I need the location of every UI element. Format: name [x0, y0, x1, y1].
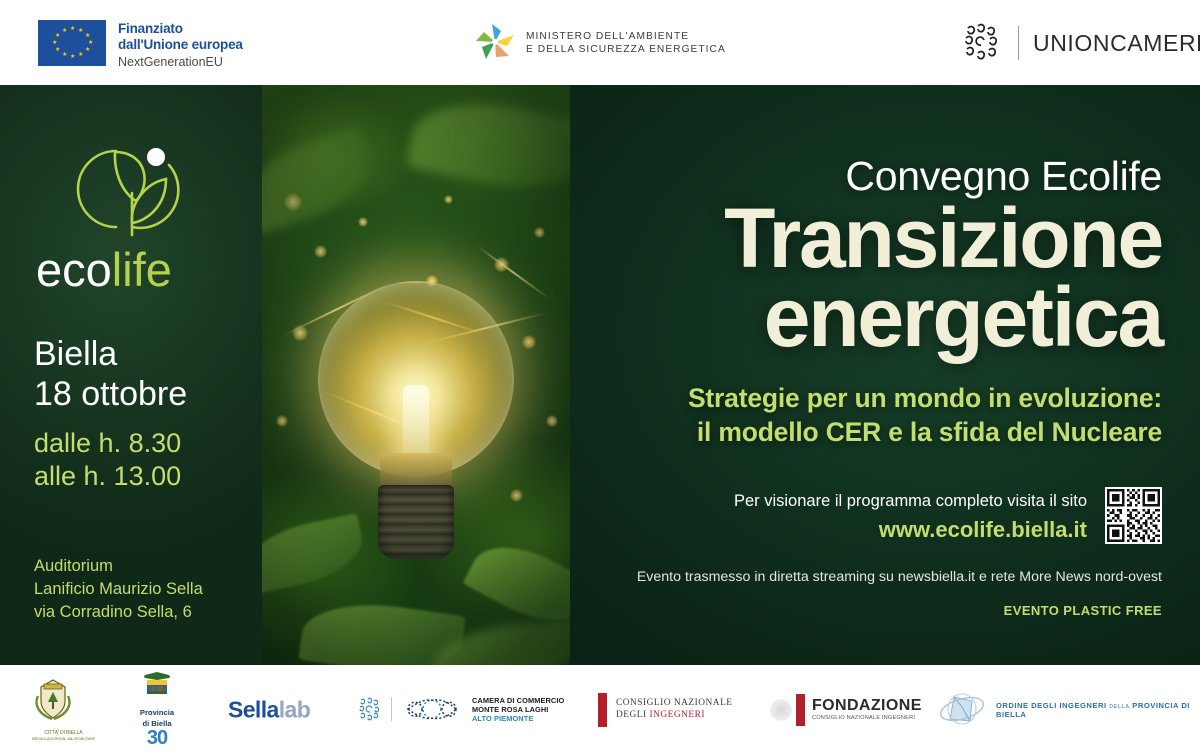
- left-info-panel: ecolife Biella 18 ottobre dalle h. 8.30 …: [0, 85, 262, 665]
- camera-commercio-text: CAMERA DI COMMERCIO MONTE ROSA LAGHI ALT…: [472, 696, 564, 724]
- comune-crest-icon: [32, 678, 74, 730]
- photo-vignette: [262, 85, 570, 665]
- ministry-logo: MINISTERO DELL'AMBIENTE E DELLA SICUREZZ…: [474, 22, 726, 64]
- cni-text: CONSIGLIO NAZIONALE DEGLI INGEGNERI: [616, 698, 733, 721]
- camera-commercio-line3: ALTO PIEMONTE: [472, 714, 564, 723]
- comune-di-biella-logo: CITTA' DI BIELLA MEDAGLIA D'ORO AL VALOR…: [32, 678, 95, 742]
- provincia-label-line1: Provincia: [120, 708, 194, 717]
- ordine-line1: ORDINE DEGLI INGEGNERI: [996, 701, 1107, 710]
- ordine-text: ORDINE DEGLI INGEGNERI DELLA PROVINCIA D…: [996, 701, 1200, 719]
- ecolife-word-life: life: [112, 243, 172, 296]
- provincia-di-biella-logo: Provincia di Biella 30: [120, 672, 194, 748]
- provincia-shield-icon: [141, 672, 173, 706]
- event-city: Biella: [34, 334, 187, 374]
- venue-line2: Lanificio Maurizio Sella: [34, 578, 203, 601]
- consiglio-nazionale-ingegneri-logo: CONSIGLIO NAZIONALE DEGLI INGEGNERI: [598, 693, 792, 727]
- title-line-1: Transizione: [724, 199, 1162, 278]
- unioncamere-divider: [1018, 26, 1019, 60]
- lightbulb-photo: [262, 85, 570, 665]
- fondazione-line2: CONSIGLIO NAZIONALE INGEGNERI: [812, 714, 922, 722]
- event-date: 18 ottobre: [34, 374, 187, 414]
- program-cta-text: Per visionare il programma completo visi…: [734, 487, 1087, 544]
- cni-red-bar-icon: [598, 693, 607, 727]
- ministry-line2: E DELLA SICUREZZA ENERGETICA: [526, 43, 726, 57]
- event-venue-block: Auditorium Lanificio Maurizio Sella via …: [34, 555, 203, 624]
- ecolife-word-eco: eco: [36, 243, 112, 296]
- repubblica-italiana-emblem: [770, 699, 792, 721]
- venue-line1: Auditorium: [34, 555, 203, 578]
- camera-di-commercio-logo: CAMERA DI COMMERCIO MONTE ROSA LAGHI ALT…: [356, 696, 564, 724]
- unioncamere-logo: UNIONCAMERE: [958, 20, 1200, 66]
- fondazione-text: FONDAZIONE CONSIGLIO NAZIONALE INGEGNERI: [812, 697, 922, 722]
- cni-line2: DEGLI INGEGNERI: [616, 710, 733, 722]
- ministry-line1: MINISTERO DELL'AMBIENTE: [526, 30, 726, 44]
- ordine-ingegneri-biella-logo: ORDINE DEGLI INGEGNERI DELLA PROVINCIA D…: [936, 691, 1200, 729]
- event-poster: ★★ ★★ ★★ ★★ ★★ ★★ Finanziato dall'Unione…: [0, 0, 1200, 754]
- eu-flag-icon: ★★ ★★ ★★ ★★ ★★ ★★: [38, 20, 106, 66]
- fondazione-red-bar-icon: [796, 694, 805, 726]
- eu-funding-line3: NextGenerationEU: [118, 54, 243, 70]
- partners-footer: CITTA' DI BIELLA MEDAGLIA D'ORO AL VALOR…: [0, 665, 1200, 754]
- eu-funding-text: Finanziato dall'Unione europea NextGener…: [118, 20, 243, 70]
- ecolife-wordmark: ecolife: [36, 245, 232, 295]
- camera-commercio-line1: CAMERA DI COMMERCIO: [472, 696, 564, 705]
- unioncamere-name: UNIONCAMERE: [1033, 30, 1200, 57]
- camera-commercio-divider: [391, 697, 392, 721]
- plastic-free-badge: EVENTO PLASTIC FREE: [1004, 603, 1162, 618]
- fondazione-cni-logo: FONDAZIONE CONSIGLIO NAZIONALE INGEGNERI: [796, 694, 922, 726]
- eu-funding-line1: Finanziato: [118, 21, 243, 37]
- event-time-to: alle h. 13.00: [34, 460, 181, 493]
- sellalab-part-1: Sella: [228, 696, 279, 722]
- event-location-block: Biella 18 ottobre: [34, 334, 187, 414]
- event-subtitle: Strategie per un mondo in evoluzione: il…: [688, 381, 1162, 449]
- eu-stars: ★★ ★★ ★★ ★★ ★★ ★★: [38, 20, 106, 66]
- ecolife-brand: ecolife: [32, 135, 232, 295]
- page-title: Transizione energetica: [724, 199, 1162, 357]
- title-line-2: energetica: [724, 278, 1162, 357]
- unioncamere-mark-icon: [958, 20, 1004, 66]
- camera-commercio-line2: MONTE ROSA LAGHI: [472, 705, 564, 714]
- subtitle-line-1: Strategie per un mondo in evoluzione:: [688, 381, 1162, 415]
- subtitle-line-2: il modello CER e la sfida del Nucleare: [688, 415, 1162, 449]
- provincia-anniversary: 30: [120, 728, 194, 748]
- cni-line1: CONSIGLIO NAZIONALE: [616, 698, 733, 710]
- sellalab-part-2: lab: [279, 696, 310, 722]
- ministry-star-icon: [474, 22, 516, 64]
- eu-funding-logo: ★★ ★★ ★★ ★★ ★★ ★★ Finanziato dall'Unione…: [38, 20, 243, 70]
- program-cta-label: Per visionare il programma completo visi…: [734, 489, 1087, 513]
- camera-commercio-mark-icon: [356, 696, 382, 722]
- venue-line3: via Corradino Sella, 6: [34, 601, 203, 624]
- comune-crest-caption-1: CITTA' DI BIELLA: [32, 731, 95, 736]
- event-hours-block: dalle h. 8.30 alle h. 13.00: [34, 427, 181, 493]
- ecolife-sprout-icon: [74, 135, 194, 241]
- cni-line2-accent: INGEGNERI: [649, 710, 705, 720]
- program-cta: Per visionare il programma completo visi…: [734, 487, 1162, 544]
- funders-topbar: ★★ ★★ ★★ ★★ ★★ ★★ Finanziato dall'Unione…: [0, 0, 1200, 85]
- qr-code-icon[interactable]: [1105, 487, 1162, 544]
- fondazione-line1: FONDAZIONE: [812, 697, 922, 714]
- cni-line2-prefix: DEGLI: [616, 710, 649, 720]
- streaming-note: Evento trasmesso in diretta streaming su…: [637, 569, 1162, 585]
- right-content-panel: Convegno Ecolife Transizione energetica …: [570, 85, 1200, 665]
- ministry-text: MINISTERO DELL'AMBIENTE E DELLA SICUREZZ…: [526, 30, 726, 57]
- event-time-from: dalle h. 8.30: [34, 427, 181, 460]
- comune-crest-caption-2: MEDAGLIA D'ORO AL VALOR MILITARE: [32, 737, 95, 742]
- camera-commercio-infinity-icon: [401, 696, 463, 722]
- ordine-line2: DELLA: [1109, 704, 1129, 710]
- program-website-link[interactable]: www.ecolife.biella.it: [734, 516, 1087, 544]
- eu-funding-line2: dall'Unione europea: [118, 37, 243, 53]
- sellalab-logo: Sellalab: [228, 696, 310, 723]
- ordine-globe-icon: [936, 691, 988, 729]
- poster-body: ecolife Biella 18 ottobre dalle h. 8.30 …: [0, 85, 1200, 665]
